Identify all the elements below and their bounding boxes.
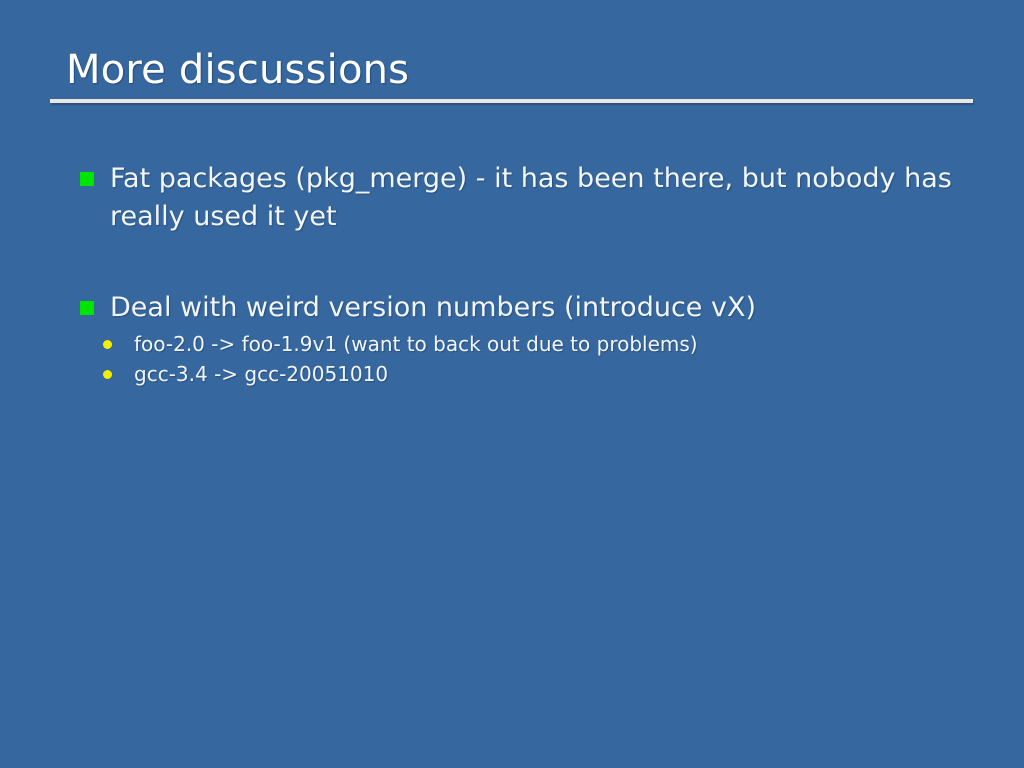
title-underline-rule <box>50 99 973 103</box>
sub-list-item: gcc-3.4 -> gcc-20051010 <box>78 359 978 389</box>
list-item-label: Deal with weird version numbers (introdu… <box>110 292 756 323</box>
bullet-group: Deal with weird version numbers (introdu… <box>78 289 978 390</box>
list-item-label: Fat packages (pkg_merge) - it has been t… <box>110 163 952 232</box>
slide-body: Fat packages (pkg_merge) - it has been t… <box>78 160 978 390</box>
list-item: Fat packages (pkg_merge) - it has been t… <box>78 160 978 237</box>
circle-bullet-icon <box>103 340 112 349</box>
square-bullet-icon <box>80 301 94 315</box>
sub-list-item-label: gcc-3.4 -> gcc-20051010 <box>134 362 388 386</box>
sub-list-item-label: foo-2.0 -> foo-1.9v1 (want to back out d… <box>134 332 698 356</box>
sub-list: foo-2.0 -> foo-1.9v1 (want to back out d… <box>78 329 978 390</box>
presentation-slide: More discussions Fat packages (pkg_merge… <box>0 0 1024 768</box>
square-bullet-icon <box>80 172 94 186</box>
list-item: Deal with weird version numbers (introdu… <box>78 289 978 327</box>
page-title: More discussions <box>50 48 974 93</box>
circle-bullet-icon <box>103 370 112 379</box>
slide-title-block: More discussions <box>50 48 974 103</box>
bullet-group: Fat packages (pkg_merge) - it has been t… <box>78 160 978 237</box>
sub-list-item: foo-2.0 -> foo-1.9v1 (want to back out d… <box>78 329 978 359</box>
